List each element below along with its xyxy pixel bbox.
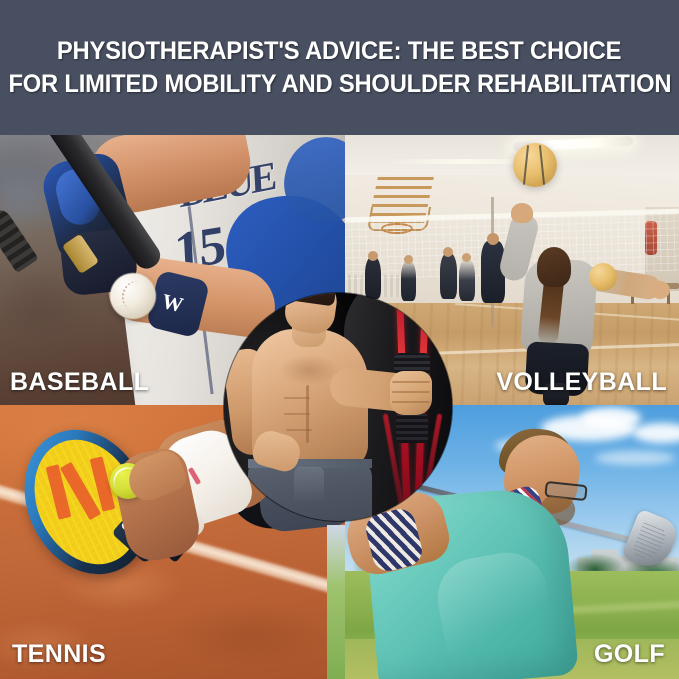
background-player-1-head	[368, 251, 378, 261]
tennis-edge-strip	[327, 525, 345, 679]
inset-model-ab-line-2	[284, 413, 310, 415]
product-poster: PHYSIOTHERAPIST'S ADVICE: THE BEST CHOIC…	[0, 0, 679, 679]
inset-model-ab-line-1	[284, 397, 310, 399]
inset-model-finger-2	[392, 391, 430, 393]
center-product-inset	[224, 293, 452, 521]
background-player-5-head	[487, 233, 499, 245]
inset-model-ab-line-3	[286, 429, 312, 431]
volleyball-player-extended-hand	[650, 281, 670, 299]
volleyball-player-hair	[537, 247, 571, 287]
header-line-1: PHYSIOTHERAPIST'S ADVICE: THE BEST CHOIC…	[57, 35, 621, 68]
volleyball-player-serving-hand	[511, 203, 533, 223]
cloud-2	[581, 407, 641, 429]
background-player-3-head	[443, 247, 453, 257]
inset-model-finger-3	[392, 401, 430, 403]
background-player-4	[459, 259, 475, 301]
poster-header-banner: PHYSIOTHERAPIST'S ADVICE: THE BEST CHOIC…	[0, 0, 679, 135]
inset-model-shorts-drawstring	[294, 467, 324, 503]
quadrant-label-baseball: BASEBALL	[10, 368, 149, 397]
volleyball-ball-secondary	[589, 263, 617, 291]
volleyball-ball	[513, 143, 557, 187]
header-line-2: FOR LIMITED MOBILITY AND SHOULDER REHABI…	[8, 68, 671, 101]
background-player-4-head	[462, 253, 471, 262]
inset-model-right-hand	[390, 371, 432, 415]
quadrant-label-tennis: TENNIS	[12, 640, 106, 669]
quadrant-label-golf: GOLF	[594, 640, 665, 669]
inset-model-chest-shading	[280, 355, 338, 385]
inset-model-finger-1	[392, 381, 430, 383]
cloud-5	[595, 451, 675, 465]
quadrant-label-volleyball: VOLLEYBALL	[496, 368, 667, 397]
twist-bar-grip-lower	[396, 413, 428, 443]
background-player-2-head	[404, 255, 413, 264]
